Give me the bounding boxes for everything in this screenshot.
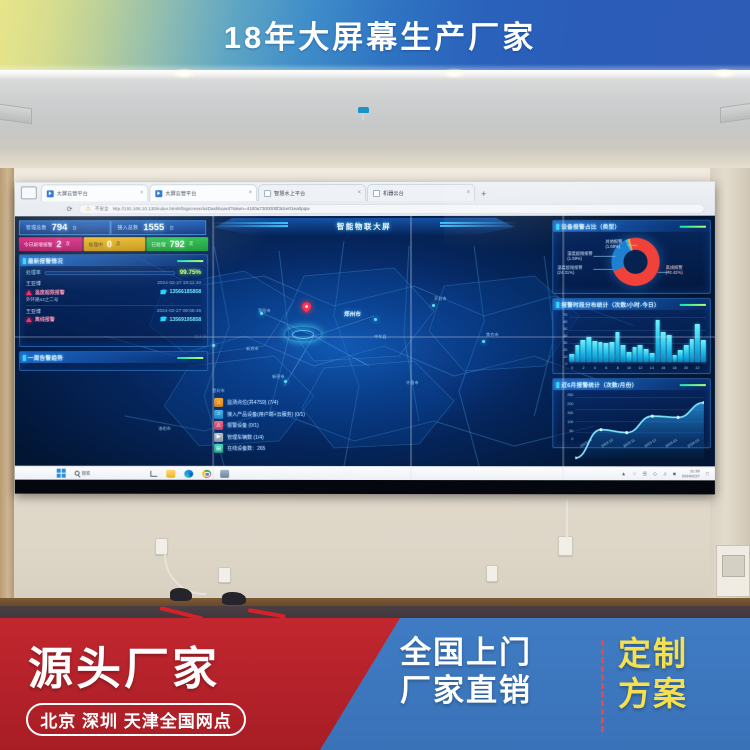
bar	[638, 345, 643, 362]
bar	[621, 345, 626, 362]
clock-date: 2024/2/27	[682, 473, 700, 478]
promo-left-headline: 源头厂家	[28, 632, 328, 697]
legend-item[interactable]: ⌂ 接入产品设备(用户端+云服务) (0/1)	[214, 410, 305, 419]
start-icon[interactable]	[57, 469, 66, 478]
alarm-phone: ☎ 13569195858	[159, 316, 201, 323]
bar	[592, 341, 597, 362]
ceiling-air-vent	[0, 102, 32, 124]
panel-header: 报警时段分布统计（次数/小时-今日）	[553, 299, 710, 310]
search-icon	[75, 471, 80, 476]
donut-callout-small-1: 湿度超限报警 (1.59%)	[567, 251, 592, 262]
not-secure-label: 不安全	[95, 206, 109, 212]
input-method-icon[interactable]: ◇	[653, 471, 657, 477]
bottom-promo-banner: 源头厂家 北京 深圳 天津全国网点 全国上门 厂家直销 定制 方案	[0, 618, 750, 750]
bar	[627, 352, 632, 362]
alarm-time: 2024-02-27 10:11:40	[157, 281, 201, 286]
battery-icon[interactable]: ■	[673, 471, 676, 477]
alarm-phone-number: 13566185858	[170, 289, 202, 295]
kpi-value: 794	[52, 222, 68, 233]
panel-header: 近6月报警统计（次数/月份）	[553, 379, 710, 390]
chip-unit: 次	[116, 241, 120, 247]
data-point	[625, 431, 628, 434]
alarm-location: 外环路44之二号	[26, 297, 201, 303]
browser-tab-label: 大屏云管平台	[165, 190, 245, 197]
promo-accent-line-2: 方案	[618, 674, 688, 714]
y-tick: 50	[569, 429, 573, 433]
map-node-dot	[432, 304, 435, 307]
bar	[644, 349, 649, 362]
weekly-trend-panel: 一周告警趋势	[19, 351, 208, 371]
y-tick: 250	[567, 393, 573, 397]
map-city-label: 洛阳市	[158, 426, 171, 432]
alarm-type-label: 离线报警	[35, 316, 55, 323]
taskbar-search[interactable]: 搜索	[75, 470, 91, 476]
bar	[695, 324, 700, 362]
bar	[604, 343, 609, 363]
legend-label: 监测点位(共4759) (7/4)	[227, 399, 278, 406]
handle-rate-value: 99.75%	[180, 269, 202, 276]
app-icon[interactable]	[220, 469, 229, 477]
y-tick: 100	[567, 420, 573, 424]
bar	[667, 335, 672, 362]
panel-seam-vertical	[410, 216, 412, 480]
handle-rate-row: 处理率 99.75%	[20, 266, 207, 277]
browser-tab-2[interactable]: 大屏云管平台 ×	[149, 184, 257, 201]
legend-item[interactable]: ⌂ 监测点位(共4759) (7/4)	[214, 398, 305, 407]
warning-triangle-icon	[26, 317, 32, 322]
close-icon[interactable]: ×	[249, 190, 253, 196]
panel-title: 设备报警占比（类型）	[561, 222, 620, 230]
legend-item[interactable]: ▶ 管理车辆数 (1/4)	[214, 433, 305, 442]
bar	[586, 336, 591, 362]
header-accent-bar	[680, 225, 706, 227]
new-tab-button[interactable]: +	[481, 189, 486, 199]
donut-leader-line	[593, 269, 613, 270]
windows-taskbar: 搜索 ▲ ♢ ☰ ◇ ♫ ■	[15, 466, 715, 481]
volume-icon[interactable]: ♫	[663, 471, 667, 477]
reload-icon[interactable]: ⟳	[67, 205, 73, 213]
panel-title: 最新报警情况	[28, 257, 63, 265]
area-x-axis: 2023-092023-102023-112023-122024-012024-…	[575, 441, 704, 445]
wall-outlet	[218, 567, 231, 583]
system-tray: ▲ ♢ ☰ ◇ ♫ ■ 11:30 2024/2/27 □	[621, 469, 709, 478]
ceiling-downlight	[442, 69, 466, 78]
alarm-phone-number: 13569195858	[170, 317, 202, 323]
handle-rate-track	[45, 271, 176, 275]
header-accent-bar	[680, 303, 706, 305]
donut-callout-secondary: 温度超限报警 (24.31%)	[557, 265, 582, 276]
building-icon: ⌂	[214, 398, 223, 407]
taskbar-left-group: 搜索	[57, 469, 91, 478]
bar	[684, 345, 689, 362]
handle-rate-label: 处理率	[26, 269, 41, 276]
kpi-value: 1555	[143, 222, 164, 233]
file-explorer-icon[interactable]	[166, 469, 175, 477]
header-accent-bar	[177, 356, 203, 358]
bar	[609, 342, 614, 362]
promo-accent-headline: 定制 方案	[618, 634, 688, 713]
chip-unit: 次	[65, 241, 69, 247]
alarm-list: 王亚博 2024-02-27 10:11:40 温度超限报警 ☎ 1356618…	[20, 277, 207, 327]
bar-x-axis: 0246810121416182022	[569, 366, 706, 370]
browser-tab-label: 智慧水上平台	[274, 190, 354, 197]
alarm-box-icon: ⚠	[214, 421, 223, 430]
network-icon[interactable]: ☰	[643, 471, 648, 477]
led-video-wall: 大屏云管平台 × 大屏云管平台 × 智慧水上平台 × 机器云台 ×	[15, 182, 715, 495]
media-tab-icon	[155, 190, 162, 197]
y-tick: 0	[571, 437, 573, 441]
alarm-person: 王亚博	[26, 280, 41, 287]
device-icon: ▤	[214, 444, 223, 453]
panel-seam-vertical	[212, 216, 214, 480]
panel-title: 近6月报警统计（次数/月份）	[561, 381, 637, 389]
area-y-axis: 250 200 150 100 50 0	[555, 393, 574, 431]
bar	[690, 339, 695, 363]
bar	[575, 345, 580, 362]
browser-toolbar: ⟳ ⚠ 不安全 http://192.168.10.130/index.html…	[15, 201, 715, 217]
kpi-label: 接入总数	[117, 224, 138, 231]
panel-title: 一周告警趋势	[28, 353, 63, 361]
area-chart-plot: 250 200 150 100 50 0	[553, 391, 710, 447]
bar	[655, 320, 660, 362]
media-tab-icon	[47, 190, 54, 197]
legend-label: 在线设备数：265	[227, 445, 265, 452]
kpi-unit: 台	[169, 225, 174, 231]
vehicle-icon: ▶	[214, 433, 223, 442]
browser-tab-4[interactable]: 机器云台 ×	[367, 184, 475, 201]
bar	[678, 350, 683, 362]
panel-header: 最新报警情况	[20, 255, 207, 266]
phone-icon: ☎	[159, 289, 166, 296]
browser-tabstrip: 大屏云管平台 × 大屏云管平台 × 智慧水上平台 × 机器云台 ×	[15, 182, 715, 202]
kpi-chip-handled: 已处理 792 次	[146, 237, 208, 251]
page-tab-icon	[373, 189, 380, 196]
edge-icon[interactable]	[184, 469, 193, 477]
promo-right-headline: 全国上门 厂家直销	[400, 634, 532, 710]
bar-series	[569, 315, 706, 362]
map-node-dot	[284, 380, 287, 383]
ceiling-air-vent	[720, 101, 750, 123]
floor-object-bag	[222, 592, 246, 605]
bar	[632, 347, 637, 362]
bar	[598, 342, 603, 362]
top-promo-headline: 18年大屏幕生产厂家	[0, 12, 750, 57]
x-tick	[700, 366, 706, 370]
map-node-dot	[482, 340, 485, 343]
browser-tab-3[interactable]: 智慧水上平台 ×	[258, 184, 366, 201]
top-promo-banner: 18年大屏幕生产厂家	[0, 0, 750, 70]
task-view-icon[interactable]	[150, 470, 157, 476]
kpi-label: 管理总数	[26, 224, 47, 231]
alarm-type: 离线报警	[26, 316, 55, 323]
browser-tab-label: 大屏云管平台	[57, 190, 137, 197]
panel-title: 报警时段分布统计（次数/小时-今日）	[561, 300, 660, 308]
alarm-time: 2024-02-27 09:06:45	[157, 309, 201, 314]
promo-location-pill: 北京 深圳 天津全国网点	[26, 703, 246, 736]
y-tick: 0	[565, 362, 567, 366]
chip-label: 今日新增报警	[24, 241, 53, 248]
chip-label: 处理中	[89, 241, 103, 248]
panel-header: 一周告警趋势	[20, 352, 207, 363]
title-right-wing	[440, 222, 518, 227]
promo-accent-line-1: 定制	[618, 634, 688, 674]
donut-leader-line	[658, 272, 670, 273]
promo-right-line-2: 厂家直销	[400, 672, 532, 710]
wall-panel-box	[716, 545, 750, 597]
header-accent-bar	[177, 260, 203, 262]
factory-icon: ⌂	[214, 410, 223, 419]
alarm-person: 王亚博	[26, 308, 41, 315]
donut-hole	[623, 250, 647, 274]
chip-value: 792	[170, 239, 185, 249]
data-point	[677, 416, 680, 419]
legend-item[interactable]: ▤ 在线设备数：265	[214, 444, 305, 453]
bar-chart-plot: 70 60 50 40 30 20 10 0 02468101214161820…	[553, 311, 710, 373]
wall-outlet	[486, 565, 498, 582]
chip-label: 已处理	[151, 241, 165, 248]
bar	[649, 353, 654, 362]
donut-callout-small-2: 其他报警 (1.68%)	[605, 239, 622, 250]
alarm-type-label: 温度超限报警	[35, 289, 65, 296]
address-bar[interactable]: ⚠ 不安全 http://192.168.10.130/index.html#/…	[79, 203, 705, 214]
legend-label: 接入产品设备(用户端+云服务) (0/1)	[227, 411, 305, 418]
bar	[672, 355, 677, 362]
legend-label: 报警设备 (0/1)	[227, 422, 259, 429]
map-pulse-ring-outer	[284, 326, 322, 342]
map-node-dot	[260, 312, 263, 315]
monthly-area-panel: 近6月报警统计（次数/月份） 250 200 150 100 50 0	[552, 378, 711, 448]
warning-triangle-icon	[26, 290, 32, 295]
legend-label: 管理车辆数 (1/4)	[227, 434, 264, 441]
panel-seam-horizontal	[15, 336, 715, 338]
ceiling-downlight	[172, 69, 196, 78]
panel-seam-vertical	[562, 216, 564, 480]
photo-scene: 18年大屏幕生产厂家 大屏云管平台	[0, 0, 750, 750]
not-secure-icon: ⚠	[85, 205, 90, 212]
map-center-city-label: 郑州市	[344, 310, 361, 318]
phone-icon: ☎	[159, 316, 166, 323]
y-tick: 200	[567, 402, 573, 406]
alarm-row[interactable]: 王亚博 2024-02-27 10:11:40 温度超限报警 ☎ 1356618…	[26, 278, 201, 305]
search-placeholder: 搜索	[82, 470, 91, 476]
wall-outlet	[558, 536, 573, 556]
kpi-connected-total: 接入总数 1555 台	[110, 220, 206, 235]
chrome-icon[interactable]	[202, 469, 211, 477]
map-city-label: 新郑市	[246, 346, 259, 352]
chip-value: 0	[107, 239, 112, 249]
alarm-phone: ☎ 13566185858	[159, 289, 201, 296]
latest-alarm-panel: 最新报警情况 处理率 99.75% 王亚博 2024-02-27 10:11:4…	[19, 254, 208, 347]
panel-header: 设备报警占比（类型）	[553, 221, 710, 232]
promo-dashed-divider	[601, 640, 604, 732]
chevron-up-icon[interactable]: ▲	[621, 471, 626, 477]
chip-unit: 次	[189, 241, 193, 247]
map-city-label: 许昌市	[406, 380, 419, 386]
ceiling-downlight	[712, 69, 736, 78]
close-icon[interactable]: ×	[140, 190, 144, 196]
page-tab-icon	[264, 190, 271, 197]
iot-dashboard: 智能物联大屏 管理总数 794 台 接入总数 1555 台 今日新增报警	[15, 216, 715, 481]
notification-icon[interactable]: ♢	[632, 471, 637, 477]
alarm-row[interactable]: 王亚博 2024-02-27 09:06:45 离线报警 ☎ 135691958…	[26, 305, 201, 325]
map-city-label: 开封市	[434, 296, 447, 302]
close-icon[interactable]: ×	[467, 190, 471, 196]
bar	[581, 340, 586, 362]
taskbar-clock[interactable]: 11:30 2024/2/27	[682, 469, 700, 478]
ceiling-sprinkler	[358, 107, 370, 121]
kpi-top-strip: 管理总数 794 台 接入总数 1555 台	[19, 220, 206, 235]
show-desktop-icon[interactable]: □	[706, 471, 709, 477]
data-point	[599, 428, 602, 431]
header-accent-bar	[680, 384, 706, 386]
kpi-chip-row: 今日新增报警 2 次 处理中 0 次 已处理 792 次	[19, 237, 208, 251]
map-legend: ⌂ 监测点位(共4759) (7/4) ⌂ 接入产品设备(用户端+云服务) (0…	[214, 398, 305, 456]
browser-chrome: 大屏云管平台 × 大屏云管平台 × 智慧水上平台 × 机器云台 ×	[15, 182, 715, 217]
donut-callout-major: 离线报警 (72.42%)	[666, 265, 683, 276]
y-tick: 150	[567, 411, 573, 415]
map-city-label: 新密市	[272, 374, 285, 380]
browser-tab-1[interactable]: 大屏云管平台 ×	[41, 184, 149, 201]
legend-item[interactable]: ⚠ 报警设备 (0/1)	[214, 421, 305, 430]
hanging-cable	[566, 500, 570, 538]
close-icon[interactable]: ×	[357, 190, 361, 196]
ceiling	[0, 70, 750, 170]
window-restore-icon[interactable]	[21, 186, 37, 199]
wall-left-wood-trim	[0, 168, 14, 610]
alarm-type-pie-panel: 设备报警占比（类型） 离线报警 (72.42%) 温度超限报警 (24.31%)…	[552, 220, 711, 294]
kpi-chip-new-alarms: 今日新增报警 2 次	[19, 237, 83, 251]
donut-leader-line	[628, 245, 638, 246]
address-bar-url: http://192.168.10.130/index.html#/bigscr…	[113, 206, 310, 211]
chip-value: 2	[57, 239, 62, 249]
bar	[701, 340, 706, 362]
kpi-managed-total: 管理总数 794 台	[19, 220, 111, 235]
kpi-unit: 台	[72, 225, 77, 231]
alarm-type: 温度超限报警	[26, 289, 65, 296]
promo-right-line-1: 全国上门	[400, 634, 532, 672]
taskbar-app-group	[150, 469, 229, 477]
title-left-wing	[210, 222, 288, 227]
wall-right-column	[710, 168, 750, 610]
bar	[569, 354, 574, 362]
floor-object-bag	[170, 588, 192, 601]
data-point	[651, 415, 654, 418]
map-node-dot	[374, 318, 377, 321]
donut-leader-line	[593, 256, 615, 257]
donut-chart: 离线报警 (72.42%) 温度超限报警 (24.31%) 湿度超限报警 (1.…	[553, 232, 710, 294]
kpi-chip-processing: 处理中 0 次	[84, 237, 146, 251]
browser-tab-label: 机器云台	[383, 189, 464, 196]
